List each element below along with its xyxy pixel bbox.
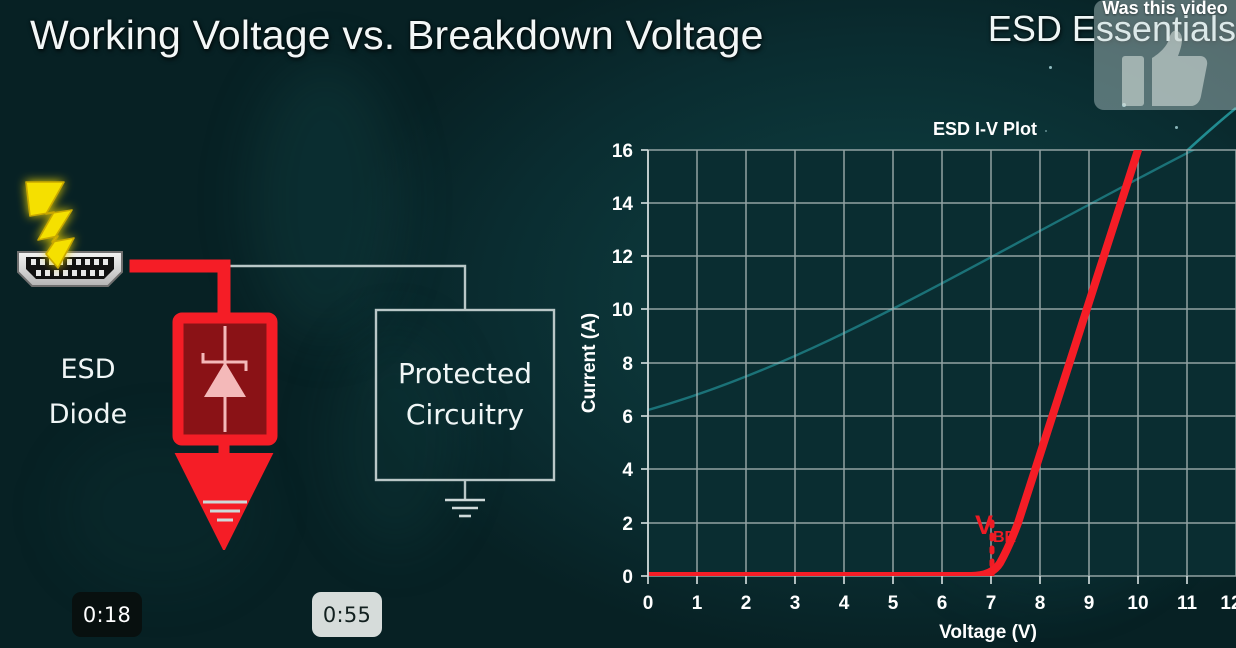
- y-tick-label: 12: [612, 247, 633, 268]
- y-tick-label: 10: [612, 300, 633, 321]
- chart-title: ESD I-V Plot: [933, 119, 1037, 139]
- y-tick-label: 2: [622, 514, 633, 535]
- x-axis-ticks: [648, 576, 1187, 584]
- survey-prompt: Was this video: [1094, 0, 1236, 19]
- y-tick-label: 8: [622, 354, 633, 375]
- x-tick-label: 12: [1220, 593, 1236, 614]
- y-axis-ticks: [641, 150, 648, 576]
- video-survey-overlay[interactable]: Was this video: [1094, 0, 1236, 110]
- y-tick-label: 14: [612, 194, 634, 215]
- x-tick-label: 1: [692, 593, 703, 614]
- esd-iv-plot: 16 14 12 10 8 6 4 2 0 0 1 2 3 4 5 6 7 8: [575, 110, 1236, 648]
- page-title: Working Voltage vs. Breakdown Voltage: [30, 12, 764, 59]
- current-time-badge[interactable]: 0:18: [72, 592, 142, 637]
- total-time-badge[interactable]: 0:55: [312, 592, 382, 637]
- esd-diode-block: [178, 318, 272, 440]
- x-tick-label: 2: [741, 593, 752, 614]
- x-tick-label: 3: [790, 593, 801, 614]
- x-tick-label: 11: [1177, 593, 1198, 614]
- video-frame: Working Voltage vs. Breakdown Voltage ES…: [0, 0, 1236, 648]
- protected-circuitry-block: Protected Circuitry: [376, 310, 554, 500]
- hdmi-connector: [16, 250, 124, 286]
- x-axis-label: Voltage (V): [939, 622, 1037, 643]
- x-tick-label: 0: [643, 593, 654, 614]
- y-tick-label: 16: [612, 141, 633, 162]
- ground-icon: [203, 502, 247, 520]
- y-tick-labels: 16 14 12 10 8 6 4 2 0: [612, 141, 634, 588]
- x-tick-label: 9: [1084, 593, 1095, 614]
- x-tick-label: 8: [1035, 593, 1046, 614]
- y-tick-label: 4: [622, 460, 633, 481]
- ground-icon: [445, 500, 485, 516]
- esd-diode-label-line2: Diode: [49, 399, 128, 430]
- y-tick-label: 6: [622, 407, 633, 428]
- esd-diode-label-line1: ESD: [61, 354, 116, 385]
- signal-wire: [140, 266, 465, 310]
- protected-circuitry-label-line2: Circuitry: [406, 398, 524, 431]
- vbr-label: V: [975, 510, 993, 540]
- x-tick-label: 10: [1127, 593, 1148, 614]
- x-tick-label: 5: [888, 593, 899, 614]
- thumbs-up-icon[interactable]: [1122, 30, 1208, 106]
- x-tick-label: 6: [937, 593, 948, 614]
- y-tick-label: 0: [622, 567, 633, 588]
- sparkle-dot: [1049, 66, 1052, 69]
- x-tick-label: 4: [839, 593, 850, 614]
- y-axis-label: Current (A): [579, 313, 600, 413]
- x-tick-labels: 0 1 2 3 4 5 6 7 8 9 10 11 12: [643, 593, 1236, 614]
- x-tick-label: 7: [986, 593, 997, 614]
- protected-circuitry-label-line1: Protected: [398, 357, 532, 390]
- esd-protection-circuit-diagram: ESD Diode Protected Circuitry: [0, 170, 600, 550]
